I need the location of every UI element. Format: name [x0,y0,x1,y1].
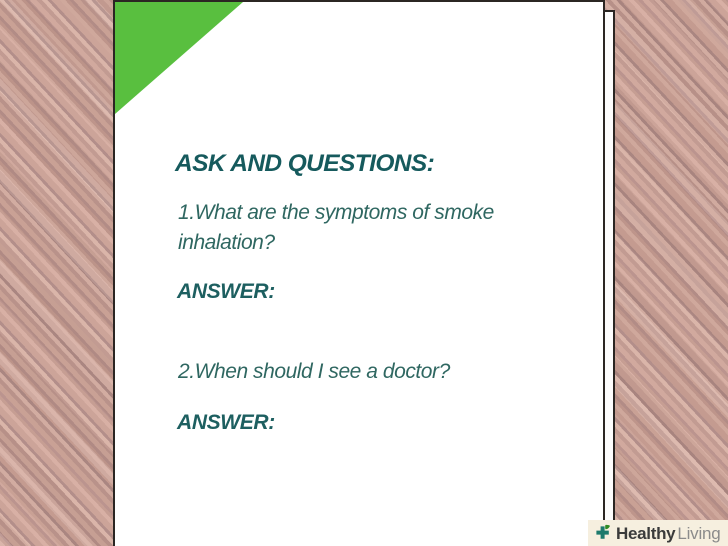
green-cross-leaf-icon [593,523,613,543]
green-corner-triangle-accent [115,2,243,114]
brand-name-bold: Healthy [616,524,675,543]
answer-label-1: ANSWER: [175,278,575,305]
spacer-after-answer-1 [175,305,575,357]
spacer-after-question-1 [175,258,575,278]
brand-wordmark: HealthyLiving [616,525,721,542]
brand-name-light: Living [677,524,720,543]
white-card: ASK AND QUESTIONS: 1.What are the sympto… [113,0,605,546]
page-title: ASK AND QUESTIONS: [175,150,575,178]
answer-label-2: ANSWER: [175,409,575,436]
brand-watermark: HealthyLiving [588,520,728,546]
spacer-after-question-2 [175,387,575,409]
question-item-2: 2.When should I see a doctor? [175,357,575,387]
card-content: ASK AND QUESTIONS: 1.What are the sympto… [175,150,575,436]
screenshot-stage: ASK AND QUESTIONS: 1.What are the sympto… [0,0,728,546]
question-item-1: 1.What are the symptoms of smoke inhalat… [175,198,575,258]
